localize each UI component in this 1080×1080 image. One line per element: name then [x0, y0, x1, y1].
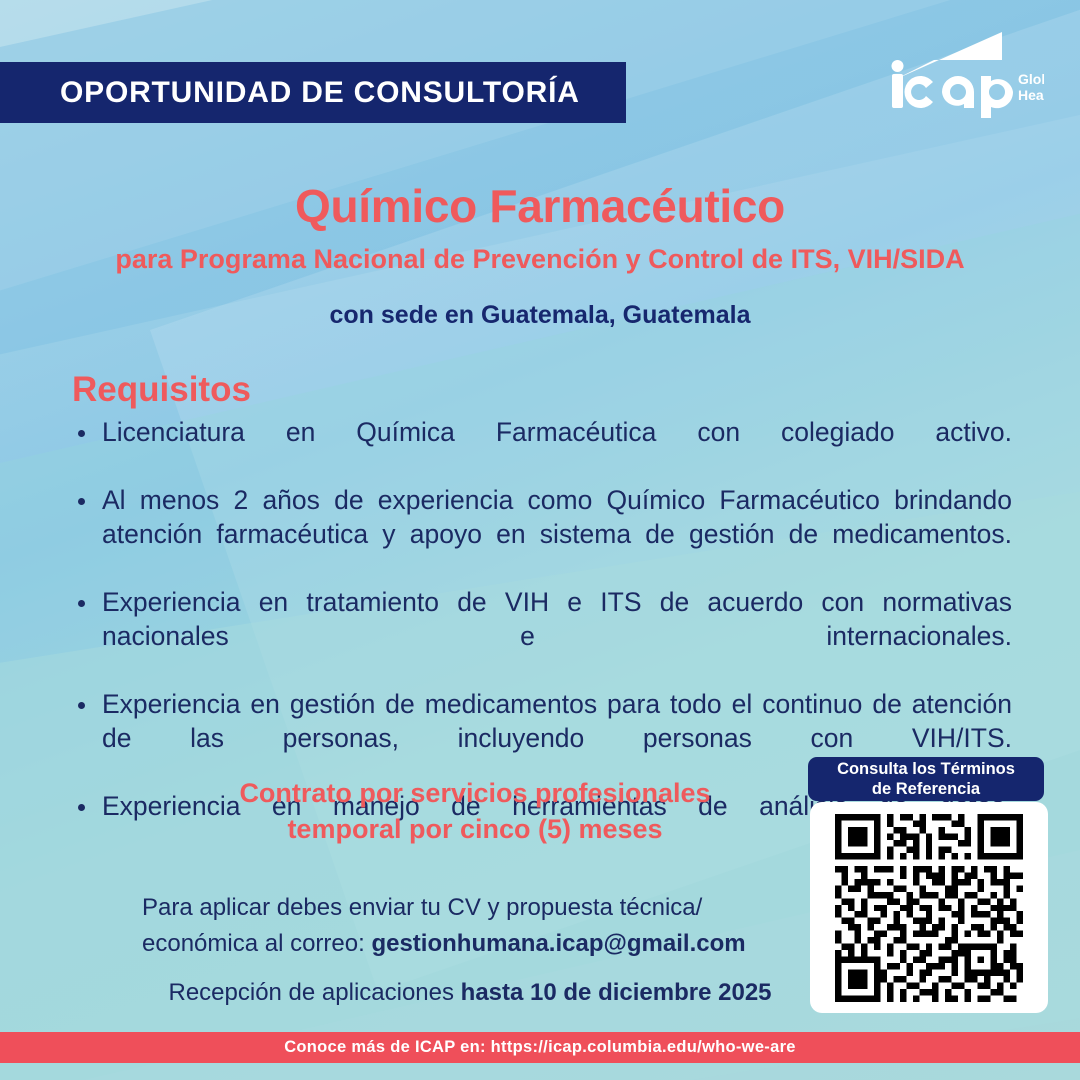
- job-location: con sede en Guatemala, Guatemala: [0, 301, 1080, 330]
- qr-code-card[interactable]: [810, 802, 1048, 1013]
- apply-line-3: Recepción de aplicaciones hasta 10 de di…: [120, 975, 820, 1011]
- application-deadline: hasta 10 de diciembre 2025: [461, 979, 772, 1006]
- deadline-prefix: Recepción de aplicaciones: [168, 979, 460, 1006]
- footer-link-text[interactable]: Conoce más de ICAP en: https://icap.colu…: [284, 1038, 796, 1057]
- requirement-item: Al menos 2 años de experiencia como Quím…: [72, 484, 1012, 585]
- bullet-icon: [78, 702, 85, 709]
- qr-badge-line-1: Consulta los Términos: [837, 759, 1015, 779]
- requirement-text: Experiencia en gestión de medicamentos p…: [102, 689, 1012, 753]
- requirement-text: Experiencia en tratamiento de VIH e ITS …: [102, 587, 1012, 651]
- footer-bar: Conoce más de ICAP en: https://icap.colu…: [0, 1032, 1080, 1063]
- header-banner: OPORTUNIDAD DE CONSULTORÍA: [0, 62, 626, 123]
- apply-email-prefix: económica al correo:: [142, 930, 371, 957]
- icap-logo: Global Health: [884, 26, 1044, 118]
- bullet-icon: [78, 804, 85, 811]
- title-block: Químico Farmacéutico para Programa Nacio…: [0, 182, 1080, 329]
- application-instructions: Para aplicar debes enviar tu CV y propue…: [120, 890, 820, 1011]
- logo-tagline-health: Health: [1018, 87, 1044, 103]
- bullet-icon: [78, 430, 85, 437]
- contract-terms: Contrato por servicios profesionales tem…: [130, 775, 820, 847]
- requirement-text: Al menos 2 años de experiencia como Quím…: [102, 485, 1012, 549]
- header-banner-title: OPORTUNIDAD DE CONSULTORÍA: [0, 76, 580, 110]
- bullet-icon: [78, 498, 85, 505]
- qr-badge[interactable]: Consulta los Términos de Referencia: [808, 757, 1044, 801]
- requirement-item: Licenciatura en Química Farmacéutica con…: [72, 416, 1012, 483]
- apply-line-2: económica al correo: gestionhumana.icap@…: [120, 926, 820, 962]
- bullet-icon: [78, 600, 85, 607]
- job-program: para Programa Nacional de Prevención y C…: [0, 244, 1080, 275]
- contact-email: gestionhumana.icap@gmail.com: [371, 930, 745, 957]
- job-posting-poster: OPORTUNIDAD DE CONSULTORÍA Global Health…: [0, 0, 1080, 1080]
- logo-tagline-global: Global: [1018, 71, 1044, 87]
- apply-line-1: Para aplicar debes enviar tu CV y propue…: [120, 890, 820, 926]
- qr-code-icon: [835, 814, 1023, 1002]
- contract-line-1: Contrato por servicios profesionales: [130, 775, 820, 811]
- qr-badge-line-2: de Referencia: [872, 779, 980, 799]
- requirement-item: Experiencia en tratamiento de VIH e ITS …: [72, 586, 1012, 687]
- requirements-heading: Requisitos: [72, 370, 1012, 410]
- contract-line-2: temporal por cinco (5) meses: [130, 811, 820, 847]
- requirement-text: Licenciatura en Química Farmacéutica con…: [102, 417, 1012, 447]
- job-title: Químico Farmacéutico: [0, 182, 1080, 232]
